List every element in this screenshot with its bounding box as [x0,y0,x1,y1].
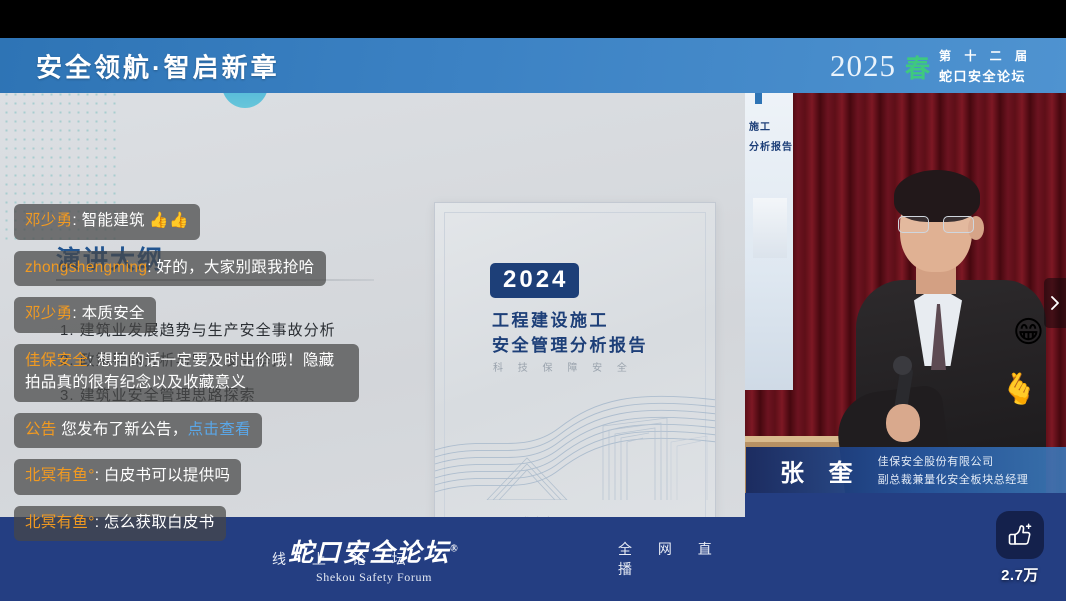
chat-colon: : [72,212,81,229]
projection-text-2: 分析报告 [749,138,793,153]
chat-username: 邓少勇 [25,305,72,322]
chat-message[interactable]: 邓少勇: 智能建筑 👍👍 [14,204,200,239]
book-year-badge: 2024 [490,263,579,298]
chat-message[interactable]: 邓少勇: 本质安全 [14,297,156,332]
chat-text: 怎么获取白皮书 [104,514,215,531]
grinning-face-emoji: 😁 [1013,315,1044,350]
chat-text: 好的，大家别跟我抢哈 [156,259,314,276]
footer-right-text: 全 网 直 播 [618,539,748,579]
book-title-line-2: 安全管理分析报告 [492,331,648,356]
page-header: 安全领航·智启新章 2025 春 第 十 二 届 蛇口安全论坛 [0,38,1066,93]
page-title: 安全领航·智启新章 [36,47,280,84]
speaker-name-bar: 张 奎 佳保安全股份有限公司 副总裁兼量化安全板块总经理 [746,447,1066,493]
chat-colon: : [72,305,81,322]
chevron-right-icon [1050,295,1061,311]
chat-text: 白皮书可以提供吗 [104,467,230,484]
brand-edition: 第 十 二 届 [939,47,1032,64]
chat-username: 公告 [25,421,57,438]
chat-username: 北冥有鱼° [25,514,95,531]
glasses-lens-left [898,216,929,233]
top-letterbox [0,0,1066,38]
book-subtitle: 科 技 保 障 安 全 [493,359,633,374]
chat-username: 邓少勇 [25,212,72,229]
brand-season-char: 春 [905,49,930,85]
chat-message[interactable]: 佳保安全: 想拍的话一定要及时出价哦！隐藏拍品真的很有纪念以及收藏意义 [14,344,359,402]
projection-building-graphic [753,198,787,258]
announcement-link[interactable]: 点击查看 [188,421,251,438]
like-button[interactable]: 2.7万 [996,511,1044,585]
brand-name: 蛇口安全论坛 [939,66,1032,85]
chat-colon: : [95,514,104,531]
like-icon-box[interactable] [996,511,1044,559]
like-count: 2.7万 [1001,564,1039,585]
finger-heart-emoji: 🫰 [1001,372,1038,407]
microphone-head [893,356,912,375]
speaker-company: 佳保安全股份有限公司 [878,453,1029,469]
chat-text: 本质安全 [82,305,145,322]
chat-message[interactable]: 北冥有鱼°: 怎么获取白皮书 [14,506,226,541]
chat-text: 智能建筑 👍👍 [82,212,189,229]
speaker-name: 张 奎 [780,453,862,488]
chat-username: 佳保安全 [25,352,88,369]
thumbs-up-icon [1006,521,1034,549]
chat-text: 您发布了新公告， [61,421,187,438]
livestream-page: 安全领航·智启新章 2025 春 第 十 二 届 蛇口安全论坛 演讲大纲 1. … [0,0,1066,601]
registered-mark: ® [450,544,459,555]
brand-text-lines: 第 十 二 届 蛇口安全论坛 [939,47,1032,85]
footer-forum-cn-text: 蛇口安全论坛 [288,540,450,567]
forum-brand-logo: 2025 春 第 十 二 届 蛇口安全论坛 [830,47,1032,85]
chat-announcement-message[interactable]: 公告 您发布了新公告，点击查看 [14,413,262,448]
brand-year: 2025 [830,48,896,84]
speaker-hand [886,404,920,442]
speaker-role: 副总裁兼量化安全板块总经理 [878,471,1029,487]
chat-colon: : [95,467,104,484]
chat-username: zhongshengming [25,259,147,276]
footer-forum-en: Shekou Safety Forum [244,570,504,585]
speaker-affiliation: 佳保安全股份有限公司 副总裁兼量化安全板块总经理 [878,453,1029,487]
book-title-line-1: 工程建设施工 [492,306,609,331]
chat-message[interactable]: 北冥有鱼°: 白皮书可以提供吗 [14,459,241,494]
chat-username: 北冥有鱼° [25,467,95,484]
chat-message[interactable]: zhongshengming: 好的，大家别跟我抢哈 [14,251,326,286]
projection-text-1: 施工 [749,118,771,133]
collapse-panel-button[interactable] [1044,278,1066,328]
projection-screen: 施工 分析报告 [745,90,793,390]
speaker-glasses [898,216,974,233]
speaker-hair [894,170,980,222]
glasses-lens-right [943,216,974,233]
chat-overlay: 邓少勇: 智能建筑 👍👍 zhongshengming: 好的，大家别跟我抢哈 … [14,204,359,541]
